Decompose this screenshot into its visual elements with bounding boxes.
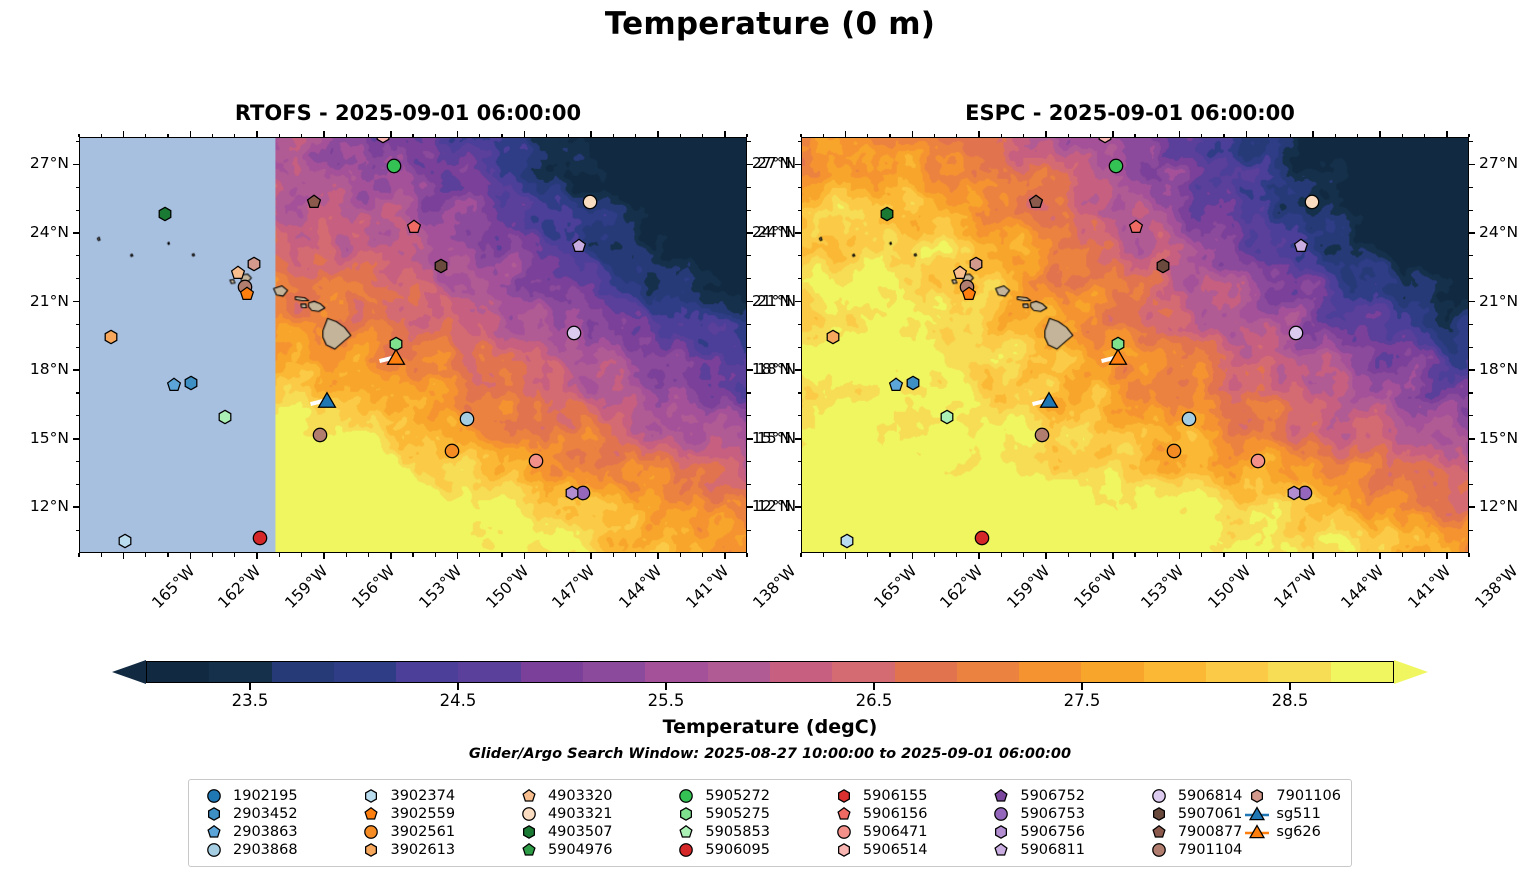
lon-minor-tick bbox=[889, 134, 890, 138]
map-marker-5906756[interactable] bbox=[564, 485, 580, 505]
colorbar-extend-high bbox=[1394, 660, 1428, 684]
legend-item-label: 2903452 bbox=[233, 806, 298, 822]
lon-tick bbox=[845, 131, 847, 137]
lat-minor-tick bbox=[1469, 530, 1473, 531]
lon-tick bbox=[190, 131, 192, 137]
legend-item-label: sg626 bbox=[1276, 824, 1320, 840]
map-marker-5906156[interactable] bbox=[1128, 219, 1144, 239]
legend-item-label: 3902374 bbox=[390, 788, 455, 804]
lat-minor-tick bbox=[747, 210, 751, 211]
lat-minor-tick bbox=[1469, 141, 1473, 142]
legend-item[interactable]: 5906155 bbox=[831, 787, 986, 805]
lat-label: 24°N bbox=[729, 223, 791, 241]
marker-legend[interactable]: 1902195290345229038632903868390237439025… bbox=[188, 779, 1352, 867]
map-marker-7900877[interactable] bbox=[306, 194, 322, 214]
legend-item-label: 1902195 bbox=[233, 788, 298, 804]
map-marker-5905272[interactable] bbox=[1108, 158, 1124, 178]
lat-tick bbox=[1469, 438, 1475, 440]
legend-item[interactable]: 5906095 bbox=[673, 841, 828, 859]
pentagon-marker-icon bbox=[988, 787, 1014, 805]
map-marker-5906514[interactable] bbox=[1097, 137, 1113, 148]
map-marker-5906814[interactable] bbox=[1288, 325, 1304, 345]
lat-minor-tick bbox=[747, 278, 751, 279]
lon-tick bbox=[590, 553, 592, 559]
circle-marker-icon bbox=[673, 787, 699, 805]
legend-item-label: 4903507 bbox=[548, 824, 613, 840]
map-marker-5905853[interactable] bbox=[217, 409, 233, 429]
lon-label: 144°W bbox=[1338, 562, 1388, 612]
legend-item[interactable]: 3902613 bbox=[358, 841, 513, 859]
lon-minor-tick bbox=[1223, 134, 1224, 138]
map-marker-4903507[interactable] bbox=[879, 206, 895, 226]
lat-minor-tick bbox=[76, 392, 80, 393]
lon-minor-tick bbox=[435, 553, 436, 557]
legend-item[interactable]: 5905853 bbox=[673, 823, 828, 841]
lon-minor-tick bbox=[1335, 134, 1336, 138]
hexagon-marker-icon bbox=[516, 823, 542, 841]
colorbar-band-7 bbox=[583, 662, 645, 682]
map-marker-5905272[interactable] bbox=[386, 158, 402, 178]
lon-tick bbox=[1312, 131, 1314, 137]
lon-tick bbox=[912, 553, 914, 559]
lon-tick bbox=[457, 553, 459, 559]
lon-minor-tick bbox=[501, 553, 502, 557]
lon-minor-tick bbox=[1268, 134, 1269, 138]
colorbar-band-3 bbox=[334, 662, 396, 682]
map-marker-2903452[interactable] bbox=[905, 375, 921, 395]
lon-minor-tick bbox=[680, 553, 681, 557]
temperature-field-rtofs bbox=[80, 138, 746, 552]
colorbar-band-10 bbox=[770, 662, 832, 682]
lon-minor-tick bbox=[613, 553, 614, 557]
lon-minor-tick bbox=[1468, 553, 1469, 557]
lon-minor-tick bbox=[412, 134, 413, 138]
lon-minor-tick bbox=[746, 134, 747, 138]
map-marker-sg626[interactable] bbox=[386, 348, 406, 372]
lon-label: 147°W bbox=[549, 562, 599, 612]
map-marker-sg511[interactable] bbox=[317, 391, 337, 415]
map-marker-3902561[interactable] bbox=[1166, 443, 1182, 463]
lat-minor-tick bbox=[747, 484, 751, 485]
lon-tick bbox=[724, 131, 726, 137]
lon-minor-tick bbox=[1290, 553, 1291, 557]
map-marker-3902374[interactable] bbox=[839, 533, 855, 553]
lon-minor-tick bbox=[479, 553, 480, 557]
map-marker-3902613[interactable] bbox=[825, 329, 841, 349]
map-marker-5906514[interactable] bbox=[375, 137, 391, 148]
lon-tick bbox=[457, 131, 459, 137]
lat-label: 18°N bbox=[729, 360, 791, 378]
lon-label: 153°W bbox=[1137, 562, 1187, 612]
lon-minor-tick bbox=[1068, 553, 1069, 557]
lat-tick bbox=[73, 506, 79, 508]
map-marker-5906811[interactable] bbox=[571, 238, 587, 258]
lon-label: 141°W bbox=[682, 562, 732, 612]
lat-tick bbox=[795, 438, 801, 440]
map-marker-5905853[interactable] bbox=[939, 409, 955, 429]
lat-label: 18°N bbox=[7, 360, 69, 378]
lat-tick bbox=[795, 506, 801, 508]
lon-minor-tick bbox=[934, 134, 935, 138]
circle-marker-icon bbox=[201, 841, 227, 859]
lat-minor-tick bbox=[76, 347, 80, 348]
lat-minor-tick bbox=[1469, 278, 1473, 279]
map-marker-5906814[interactable] bbox=[566, 325, 582, 345]
lat-minor-tick bbox=[747, 187, 751, 188]
legend-item-label: 5906756 bbox=[1020, 824, 1085, 840]
colorbar-band-8 bbox=[645, 662, 707, 682]
lat-label: 27°N bbox=[1479, 154, 1540, 172]
circle-marker-icon bbox=[201, 787, 227, 805]
lat-minor-tick bbox=[798, 415, 802, 416]
lon-minor-tick bbox=[867, 134, 868, 138]
lat-label: 15°N bbox=[7, 429, 69, 447]
lat-minor-tick bbox=[76, 530, 80, 531]
map-marker-4903321[interactable] bbox=[582, 194, 598, 214]
colorbar-tick-label: 24.5 bbox=[418, 691, 498, 710]
lon-tick bbox=[1246, 131, 1248, 137]
colorbar-gradient bbox=[146, 661, 1394, 683]
colorbar-band-15 bbox=[1081, 662, 1143, 682]
lat-tick bbox=[795, 301, 801, 303]
lat-minor-tick bbox=[798, 210, 802, 211]
lon-minor-tick bbox=[1424, 553, 1425, 557]
colorbar-tick-label: 27.5 bbox=[1042, 691, 1122, 710]
lon-label: 162°W bbox=[937, 562, 987, 612]
lat-label: 15°N bbox=[729, 429, 791, 447]
lat-minor-tick bbox=[76, 210, 80, 211]
lat-minor-tick bbox=[747, 255, 751, 256]
lat-label: 27°N bbox=[7, 154, 69, 172]
map-marker-7901106[interactable] bbox=[246, 256, 262, 276]
hexagon-marker-icon bbox=[831, 787, 857, 805]
lon-minor-tick bbox=[167, 134, 168, 138]
map-panel-rtofs[interactable] bbox=[79, 137, 747, 553]
lat-tick bbox=[73, 232, 79, 234]
lon-minor-tick bbox=[1001, 134, 1002, 138]
lon-minor-tick bbox=[234, 134, 235, 138]
lon-minor-tick bbox=[800, 134, 801, 138]
lat-label: 24°N bbox=[1479, 223, 1540, 241]
lon-minor-tick bbox=[145, 553, 146, 557]
lon-tick bbox=[1045, 553, 1047, 559]
lon-minor-tick bbox=[101, 134, 102, 138]
legend-item[interactable]: 2903452 bbox=[201, 805, 356, 823]
lon-minor-tick bbox=[568, 134, 569, 138]
legend-item[interactable]: 7900877 bbox=[1146, 823, 1243, 841]
lon-minor-tick bbox=[1001, 553, 1002, 557]
lon-minor-tick bbox=[279, 553, 280, 557]
lon-minor-tick bbox=[1090, 553, 1091, 557]
lon-minor-tick bbox=[301, 553, 302, 557]
lon-tick bbox=[123, 131, 125, 137]
legend-item[interactable]: 5906814 bbox=[1146, 787, 1243, 805]
legend-item[interactable]: 2903868 bbox=[201, 841, 356, 859]
legend-item-label: 5906814 bbox=[1178, 788, 1243, 804]
lon-tick bbox=[1179, 131, 1181, 137]
legend-item-label: 5906156 bbox=[863, 806, 928, 822]
lat-minor-tick bbox=[747, 392, 751, 393]
hexagon-marker-icon bbox=[358, 841, 384, 859]
lon-label: 165°W bbox=[148, 562, 198, 612]
map-marker-5906756[interactable] bbox=[1286, 485, 1302, 505]
lat-tick bbox=[1469, 506, 1475, 508]
map-marker-5906095[interactable] bbox=[252, 530, 268, 550]
lat-label: 18°N bbox=[1479, 360, 1540, 378]
colorbar-axis-label: Temperature (degC) bbox=[0, 716, 1540, 738]
lon-minor-tick bbox=[368, 134, 369, 138]
panel-title-rtofs: RTOFS - 2025-09-01 06:00:00 bbox=[68, 101, 748, 125]
lon-minor-tick bbox=[1357, 553, 1358, 557]
lat-label: 12°N bbox=[1479, 497, 1540, 515]
legend-item-label: 5905853 bbox=[705, 824, 770, 840]
lon-minor-tick bbox=[1201, 553, 1202, 557]
map-marker-5906811[interactable] bbox=[1293, 238, 1309, 258]
lon-tick bbox=[390, 553, 392, 559]
legend-item[interactable]: sg626 bbox=[1244, 823, 1341, 841]
lat-minor-tick bbox=[1469, 461, 1473, 462]
map-marker-5907061[interactable] bbox=[433, 258, 449, 278]
colorbar-tick-label: 25.5 bbox=[626, 691, 706, 710]
legend-item[interactable]: 5907061 bbox=[1146, 805, 1243, 823]
lat-minor-tick bbox=[747, 347, 751, 348]
map-marker-2903452[interactable] bbox=[183, 375, 199, 395]
map-marker-4903321[interactable] bbox=[1304, 194, 1320, 214]
lon-minor-tick bbox=[1201, 134, 1202, 138]
map-marker-5906095[interactable] bbox=[974, 530, 990, 550]
map-marker-5906156[interactable] bbox=[406, 219, 422, 239]
map-marker-3902559[interactable] bbox=[961, 286, 977, 306]
lat-tick bbox=[73, 164, 79, 166]
lon-label: 150°W bbox=[1204, 562, 1254, 612]
colorbar[interactable] bbox=[112, 661, 1428, 683]
lon-minor-tick bbox=[956, 134, 957, 138]
lat-tick bbox=[73, 369, 79, 371]
colorbar-band-12 bbox=[895, 662, 957, 682]
hexagon-marker-icon bbox=[201, 805, 227, 823]
lat-label: 21°N bbox=[1479, 292, 1540, 310]
lon-minor-tick bbox=[501, 134, 502, 138]
map-marker-2903863[interactable] bbox=[888, 377, 904, 397]
lon-minor-tick bbox=[635, 134, 636, 138]
lon-minor-tick bbox=[435, 134, 436, 138]
lon-minor-tick bbox=[823, 134, 824, 138]
pentagon-marker-icon bbox=[516, 841, 542, 859]
lat-tick bbox=[73, 301, 79, 303]
lat-minor-tick bbox=[798, 324, 802, 325]
lon-minor-tick bbox=[78, 134, 79, 138]
map-marker-3902561[interactable] bbox=[444, 443, 460, 463]
lon-minor-tick bbox=[78, 553, 79, 557]
lon-tick bbox=[912, 131, 914, 137]
lon-tick bbox=[390, 131, 392, 137]
map-panel-espc[interactable] bbox=[801, 137, 1469, 553]
legend-item[interactable]: 3902374 bbox=[358, 787, 513, 805]
legend-item[interactable]: 7901104 bbox=[1146, 841, 1243, 859]
legend-item[interactable]: 4903321 bbox=[516, 805, 671, 823]
legend-item[interactable]: 3902559 bbox=[358, 805, 513, 823]
lon-minor-tick bbox=[301, 134, 302, 138]
legend-item[interactable]: 5906752 bbox=[988, 787, 1143, 805]
circle-marker-icon bbox=[516, 805, 542, 823]
lon-minor-tick bbox=[889, 553, 890, 557]
map-marker-2903868[interactable] bbox=[459, 411, 475, 431]
legend-item[interactable]: 4903507 bbox=[516, 823, 671, 841]
legend-item[interactable]: 3902561 bbox=[358, 823, 513, 841]
legend-item[interactable]: 5906514 bbox=[831, 841, 986, 859]
legend-item-label: 5904976 bbox=[548, 842, 613, 858]
lat-minor-tick bbox=[798, 461, 802, 462]
lon-minor-tick bbox=[635, 553, 636, 557]
lat-minor-tick bbox=[798, 484, 802, 485]
lat-minor-tick bbox=[747, 530, 751, 531]
panel-title-espc: ESPC - 2025-09-01 06:00:00 bbox=[790, 101, 1470, 125]
lat-minor-tick bbox=[1469, 187, 1473, 188]
lon-minor-tick bbox=[368, 553, 369, 557]
lon-tick bbox=[1312, 553, 1314, 559]
colorbar-band-9 bbox=[708, 662, 770, 682]
legend-item[interactable]: 5905275 bbox=[673, 805, 828, 823]
lon-tick bbox=[1379, 553, 1381, 559]
circle-marker-icon bbox=[673, 841, 699, 859]
map-marker-2903863[interactable] bbox=[166, 377, 182, 397]
lon-label: 150°W bbox=[482, 562, 532, 612]
colorbar-tick bbox=[873, 683, 875, 690]
legend-item[interactable]: 5905272 bbox=[673, 787, 828, 805]
legend-item-label: 4903321 bbox=[548, 806, 613, 822]
hexagon-marker-icon bbox=[831, 841, 857, 859]
legend-item-label: 2903863 bbox=[233, 824, 298, 840]
map-marker-3902374[interactable] bbox=[117, 533, 133, 553]
pentagon-marker-icon bbox=[988, 841, 1014, 859]
map-marker-3902559[interactable] bbox=[239, 286, 255, 306]
legend-item[interactable]: 5906753 bbox=[988, 805, 1143, 823]
lon-minor-tick bbox=[479, 134, 480, 138]
colorbar-tick bbox=[1289, 683, 1291, 690]
legend-item[interactable]: sg511 bbox=[1244, 805, 1341, 823]
legend-item-label: 5906752 bbox=[1020, 788, 1085, 804]
map-marker-5907061[interactable] bbox=[1155, 258, 1171, 278]
lat-minor-tick bbox=[798, 187, 802, 188]
map-marker-5906471[interactable] bbox=[528, 453, 544, 473]
hexagon-marker-icon bbox=[358, 787, 384, 805]
lon-minor-tick bbox=[346, 553, 347, 557]
map-marker-sg511[interactable] bbox=[1039, 391, 1059, 415]
hexagon-marker-icon bbox=[1244, 787, 1270, 805]
lon-tick bbox=[524, 553, 526, 559]
circle-marker-icon bbox=[831, 823, 857, 841]
colorbar-band-1 bbox=[209, 662, 271, 682]
lat-tick bbox=[1469, 164, 1475, 166]
legend-item[interactable]: 5906811 bbox=[988, 841, 1143, 859]
legend-item[interactable]: 5906156 bbox=[831, 805, 986, 823]
map-marker-sg626[interactable] bbox=[1108, 348, 1128, 372]
circle-marker-icon bbox=[1146, 841, 1172, 859]
colorbar-band-14 bbox=[1019, 662, 1081, 682]
lat-minor-tick bbox=[798, 141, 802, 142]
legend-item[interactable]: 2903863 bbox=[201, 823, 356, 841]
colorbar-band-5 bbox=[458, 662, 520, 682]
lat-tick bbox=[795, 164, 801, 166]
colorbar-band-19 bbox=[1331, 662, 1393, 682]
map-marker-7901104b[interactable] bbox=[312, 427, 328, 447]
lon-tick bbox=[978, 553, 980, 559]
circle-marker-icon bbox=[1146, 787, 1172, 805]
lon-minor-tick bbox=[1134, 134, 1135, 138]
colorbar-band-17 bbox=[1206, 662, 1268, 682]
legend-item[interactable]: 7901106 bbox=[1244, 787, 1341, 805]
lat-minor-tick bbox=[76, 141, 80, 142]
lat-minor-tick bbox=[747, 141, 751, 142]
map-marker-5906471[interactable] bbox=[1250, 453, 1266, 473]
lat-minor-tick bbox=[76, 187, 80, 188]
hexagon-marker-icon bbox=[673, 805, 699, 823]
lon-tick bbox=[256, 131, 258, 137]
map-marker-4903507[interactable] bbox=[157, 206, 173, 226]
lon-minor-tick bbox=[212, 553, 213, 557]
lon-label: 162°W bbox=[215, 562, 265, 612]
temperature-field-espc bbox=[802, 138, 1468, 552]
map-marker-7901104b[interactable] bbox=[1034, 427, 1050, 447]
lon-minor-tick bbox=[568, 553, 569, 557]
lon-minor-tick bbox=[1335, 553, 1336, 557]
lon-label: 156°W bbox=[1070, 562, 1120, 612]
lat-minor-tick bbox=[76, 324, 80, 325]
lon-tick bbox=[1246, 553, 1248, 559]
legend-item[interactable]: 5906471 bbox=[831, 823, 986, 841]
lon-minor-tick bbox=[1090, 134, 1091, 138]
lon-tick bbox=[323, 131, 325, 137]
hexagon-marker-icon bbox=[988, 823, 1014, 841]
lon-minor-tick bbox=[546, 553, 547, 557]
lon-tick bbox=[123, 553, 125, 559]
legend-item-label: 3902561 bbox=[390, 824, 455, 840]
lat-minor-tick bbox=[747, 415, 751, 416]
pentagon-marker-icon bbox=[1146, 823, 1172, 841]
lat-minor-tick bbox=[1469, 210, 1473, 211]
lon-minor-tick bbox=[279, 134, 280, 138]
legend-item[interactable]: 4903320 bbox=[516, 787, 671, 805]
lon-minor-tick bbox=[1290, 134, 1291, 138]
map-marker-3902613[interactable] bbox=[103, 329, 119, 349]
legend-item[interactable]: 5906756 bbox=[988, 823, 1143, 841]
legend-item[interactable]: 5904976 bbox=[516, 841, 671, 859]
colorbar-tick-label: 23.5 bbox=[210, 691, 290, 710]
legend-item-label: 5906811 bbox=[1020, 842, 1085, 858]
legend-item-label: 5905272 bbox=[705, 788, 770, 804]
colorbar-extend-low bbox=[112, 660, 146, 684]
lat-minor-tick bbox=[76, 415, 80, 416]
lat-minor-tick bbox=[1469, 484, 1473, 485]
lat-minor-tick bbox=[798, 392, 802, 393]
legend-item[interactable]: 1902195 bbox=[201, 787, 356, 805]
map-marker-7900877[interactable] bbox=[1028, 194, 1044, 214]
legend-item-label: 5907061 bbox=[1178, 806, 1243, 822]
colorbar-band-0 bbox=[147, 662, 209, 682]
lon-tick bbox=[1446, 553, 1448, 559]
lon-minor-tick bbox=[702, 134, 703, 138]
legend-item-label: 5906155 bbox=[863, 788, 928, 804]
lon-minor-tick bbox=[101, 553, 102, 557]
colorbar-tick bbox=[665, 683, 667, 690]
lat-minor-tick bbox=[798, 347, 802, 348]
lon-minor-tick bbox=[1357, 134, 1358, 138]
lon-label: 144°W bbox=[616, 562, 666, 612]
lon-label: 147°W bbox=[1271, 562, 1321, 612]
map-marker-2903868[interactable] bbox=[1181, 411, 1197, 431]
lon-minor-tick bbox=[1402, 134, 1403, 138]
map-marker-7901106[interactable] bbox=[968, 256, 984, 276]
